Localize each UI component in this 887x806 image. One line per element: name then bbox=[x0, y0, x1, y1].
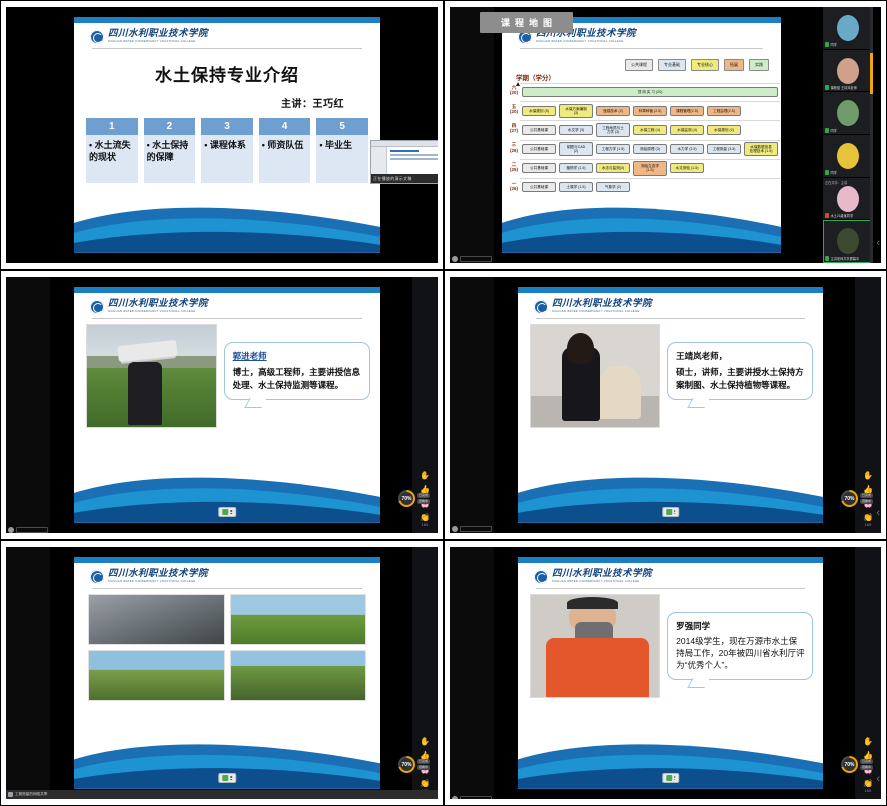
participant-tile[interactable]: 同学 bbox=[823, 135, 873, 178]
agenda-text: • 师资队伍 bbox=[259, 135, 311, 183]
raise-hand-icon[interactable]: ✋ bbox=[420, 472, 430, 480]
agenda-number: 2 bbox=[144, 118, 196, 135]
panel-2: 四川水利职业技术学院 SICHUAN WATER CONSERVANCY VOC… bbox=[444, 0, 887, 270]
thumbnail-caption: 正在播放的演示文稿 bbox=[371, 174, 438, 183]
course-chip[interactable]: 测绘原理 (3) bbox=[633, 144, 667, 154]
chat-rail[interactable] bbox=[450, 277, 494, 533]
microphone-icon bbox=[825, 256, 829, 261]
more-options-icon[interactable] bbox=[674, 510, 676, 514]
ppt-presenter-thumbnail[interactable]: 正在播放的演示文稿 bbox=[370, 140, 438, 184]
slide-stage-6: 四川水利职业技术学院 SICHUAN WATER CONSERVANCY VOC… bbox=[518, 557, 823, 789]
avatar bbox=[837, 228, 859, 254]
participant-video-rail[interactable]: 同学课程组 王靖岚老师同学同学正在共享：主讲水土21级某同学主讲老师共享屏幕中 bbox=[823, 7, 873, 263]
semester-tick: 三(26) bbox=[510, 142, 518, 152]
agenda-text: • 毕业生 bbox=[316, 135, 368, 183]
chat-input-bar[interactable] bbox=[452, 796, 492, 799]
collapse-panel-arrow-icon[interactable]: ‹ bbox=[876, 508, 880, 519]
course-chip[interactable]: 工程监理(2.5) bbox=[707, 106, 741, 116]
college-name-en: SICHUAN WATER CONSERVANCY VOCATIONAL COL… bbox=[108, 41, 208, 44]
scrollbar-thumb[interactable] bbox=[870, 53, 873, 94]
emoji-picker-icon[interactable] bbox=[8, 527, 14, 533]
screenshot-grid: 四川水利职业技术学院 SICHUAN WATER CONSERVANCY VOC… bbox=[0, 0, 887, 806]
course-chip[interactable]: 课程管理(2.5) bbox=[670, 106, 704, 116]
agenda-item: 4 • 师资队伍 bbox=[259, 118, 311, 183]
participant-tile[interactable]: 课程组 王靖岚老师 bbox=[823, 50, 873, 93]
slide-stage-5: 四川水利职业技术学院 SICHUAN WATER CONSERVANCY VOC… bbox=[74, 557, 380, 789]
more-options-icon[interactable] bbox=[674, 776, 676, 780]
agenda-item: 3 • 课程体系 bbox=[201, 118, 253, 183]
course-chip[interactable]: 公共基础课 bbox=[522, 144, 556, 154]
college-name-en: SICHUAN WATER CONSERVANCY VOCATIONAL COL… bbox=[108, 311, 208, 314]
microphone-icon bbox=[825, 42, 829, 47]
course-row: 公共基础课水文学 (3)工程地质与土 力学 (3)水保工程 (4)水保监测 (4… bbox=[520, 120, 780, 138]
progress-badge: 70% 已完成 观看中 bbox=[841, 756, 873, 773]
panel-5: 四川水利职业技术学院 SICHUAN WATER CONSERVANCY VOC… bbox=[0, 540, 444, 806]
avatar bbox=[837, 100, 859, 126]
college-name-en: SICHUAN WATER CONSERVANCY VOCATIONAL COL… bbox=[108, 581, 208, 584]
os-taskbar[interactable]: 工程测量的网络共享 bbox=[6, 790, 438, 799]
chat-rail[interactable] bbox=[450, 7, 494, 263]
taskbar-label: 工程测量的网络共享 bbox=[15, 792, 47, 797]
slide-mini-toolbar[interactable] bbox=[662, 507, 680, 517]
photo-grid bbox=[74, 589, 380, 701]
collapse-panel-arrow-icon[interactable]: ‹ bbox=[876, 774, 880, 785]
course-chip[interactable]: 测绘生态学 (1.5) bbox=[633, 161, 667, 175]
agenda-text: • 水土流失的现状 bbox=[86, 135, 138, 183]
progress-line-1: 已完成 bbox=[860, 759, 873, 764]
course-chip[interactable]: 林草种植 (2.5) bbox=[633, 106, 667, 116]
agenda-item: 5 • 毕业生 bbox=[316, 118, 368, 183]
semester-tick: 一(26) bbox=[510, 181, 518, 191]
agenda-item: 1 • 水土流失的现状 bbox=[86, 118, 138, 183]
chat-input[interactable] bbox=[460, 256, 492, 262]
progress-line-2: 观看中 bbox=[417, 499, 430, 504]
chat-input[interactable] bbox=[16, 527, 48, 533]
teacher-photo bbox=[530, 324, 660, 428]
course-chip[interactable]: 公共基础课 bbox=[522, 163, 556, 173]
college-name-cn: 四川水利职业技术学院 bbox=[552, 570, 652, 580]
raise-hand-icon[interactable]: ✋ bbox=[863, 738, 873, 746]
reaction-count: 165 bbox=[863, 522, 873, 527]
share-screen-icon[interactable] bbox=[666, 509, 672, 515]
participant-name: 主讲老师共享屏幕中 bbox=[825, 256, 859, 261]
panel-4: 四川水利职业技术学院 SICHUAN WATER CONSERVANCY VOC… bbox=[444, 270, 887, 540]
progress-badge: 70% 已完成 观看中 bbox=[398, 490, 430, 507]
slide-stage-1: 四川水利职业技术学院 SICHUAN WATER CONSERVANCY VOC… bbox=[74, 17, 380, 253]
course-chip[interactable]: 水保监测 (4) bbox=[670, 125, 704, 135]
legend-chip: 实践 bbox=[749, 59, 769, 71]
semester-credits: (26) bbox=[510, 148, 518, 153]
progress-line-2: 观看中 bbox=[860, 499, 873, 504]
progress-badge: 70% 已完成 观看中 bbox=[841, 490, 873, 507]
panel-6: 四川水利职业技术学院 SICHUAN WATER CONSERVANCY VOC… bbox=[444, 540, 887, 806]
slide-wave-decoration bbox=[502, 193, 781, 253]
share-screen-icon[interactable] bbox=[222, 509, 228, 515]
slide-mini-toolbar[interactable] bbox=[662, 773, 680, 783]
student-name: 罗强同学 bbox=[676, 620, 805, 632]
raise-hand-button[interactable]: ✋ bbox=[420, 738, 430, 746]
semester-tick: 五(20) bbox=[510, 104, 518, 114]
chat-rail[interactable] bbox=[450, 547, 494, 799]
agenda-text: • 水土保持的保障 bbox=[144, 135, 196, 183]
progress-ring-icon: 70% bbox=[841, 490, 858, 507]
reaction-count: 165 bbox=[863, 788, 873, 793]
raise-hand-icon[interactable]: ✋ bbox=[863, 472, 873, 480]
progress-ring-icon: 70% bbox=[398, 756, 415, 773]
slide-header: 四川水利职业技术学院 SICHUAN WATER CONSERVANCY VOC… bbox=[518, 563, 823, 587]
participant-tile[interactable]: 同学 bbox=[823, 92, 873, 135]
progress-line-1: 已完成 bbox=[860, 493, 873, 498]
course-chip[interactable]: 水文学 (3) bbox=[559, 125, 593, 135]
college-name-en: SICHUAN WATER CONSERVANCY VOCATIONAL COL… bbox=[552, 581, 652, 584]
participant-name: 同学 bbox=[825, 42, 837, 47]
slide-stage-4: 四川水利职业技术学院 SICHUAN WATER CONSERVANCY VOC… bbox=[518, 287, 823, 523]
progress-percent: 70% bbox=[843, 758, 856, 771]
teacher-bio-bubble: 郭进老师 博士，高级工程师，主要讲授信息处理、水土保持监测等课程。 bbox=[224, 342, 370, 400]
college-logo-icon bbox=[90, 300, 104, 314]
applause-button[interactable]: 👏165 bbox=[420, 514, 430, 527]
participant-tile[interactable]: 正在共享：主讲水土21级某同学 bbox=[823, 178, 873, 221]
raise-hand-icon[interactable]: ✋ bbox=[420, 738, 430, 746]
microphone-icon bbox=[825, 170, 829, 175]
slide-header: 四川水利职业技术学院 SICHUAN WATER CONSERVANCY VOC… bbox=[74, 23, 380, 47]
thumbnail-slide-pane bbox=[371, 147, 387, 174]
slide-mini-toolbar[interactable] bbox=[218, 773, 236, 783]
progress-ring-icon: 70% bbox=[841, 756, 858, 773]
chat-input[interactable] bbox=[460, 796, 492, 799]
semester-tick: 二(25) bbox=[510, 162, 518, 172]
tile-status-label: 正在共享：主讲 bbox=[825, 180, 871, 185]
participant-tile[interactable]: 主讲老师共享屏幕中 bbox=[823, 220, 873, 263]
applause-button[interactable]: 👏165 bbox=[863, 514, 873, 527]
college-name-cn: 四川水利职业技术学院 bbox=[108, 30, 208, 40]
progress-percent: 70% bbox=[843, 492, 856, 505]
taskbar-app-icon[interactable] bbox=[8, 792, 13, 797]
chat-rail[interactable] bbox=[6, 277, 50, 533]
microphone-icon bbox=[825, 128, 829, 133]
more-options-icon[interactable] bbox=[230, 776, 232, 780]
slide-header: 四川水利职业技术学院 SICHUAN WATER CONSERVANCY VOC… bbox=[74, 563, 380, 587]
teacher-bio-bubble: 王靖岚老师， 硕士，讲师，主要讲授水土保持方案制图、水土保持植物等课程。 bbox=[667, 342, 813, 400]
avatar bbox=[837, 186, 859, 212]
progress-line-2: 观看中 bbox=[860, 765, 873, 770]
applause-icon[interactable]: 👏 bbox=[863, 514, 873, 522]
course-chip[interactable]: 土壤学 (1.5) bbox=[559, 182, 593, 192]
course-map-overlay-title: 课程地图 bbox=[480, 12, 573, 33]
college-logo-icon bbox=[534, 570, 548, 584]
emoji-picker-icon[interactable] bbox=[452, 796, 458, 799]
photo-cell bbox=[230, 594, 367, 645]
thumbnail-slide-preview bbox=[387, 147, 438, 174]
axis-label: 学期（学分） bbox=[516, 72, 781, 82]
photo-cell bbox=[230, 650, 367, 701]
course-chip[interactable]: 水保方案编制 (3) bbox=[559, 104, 593, 118]
semester-credits: (27) bbox=[510, 128, 518, 133]
slide-header: 四川水利职业技术学院 SICHUAN WATER CONSERVANCY VOC… bbox=[518, 293, 823, 317]
chat-rail[interactable] bbox=[6, 547, 50, 799]
slide-wave-decoration bbox=[74, 193, 380, 253]
reaction-count: 165 bbox=[420, 522, 430, 527]
legend-chip: 专业核心 bbox=[691, 59, 719, 71]
header-divider bbox=[520, 48, 763, 49]
course-map-body: 一(26)二(25)三(26)四(27)五(20)六(20) 公共基础课土壤学 … bbox=[502, 83, 781, 195]
participant-name: 同学 bbox=[825, 170, 837, 175]
college-name-cn: 四川水利职业技术学院 bbox=[108, 570, 208, 580]
progress-line-1: 已完成 bbox=[417, 759, 430, 764]
college-logo-icon bbox=[90, 570, 104, 584]
presenter-label: 主讲：王巧红 bbox=[74, 95, 344, 110]
chat-input-bar[interactable] bbox=[8, 526, 48, 533]
applause-button[interactable]: 👏165 bbox=[863, 780, 873, 793]
participant-tile[interactable]: 同学 bbox=[823, 7, 873, 50]
course-chip[interactable]: 制图与CAD (2) bbox=[559, 142, 593, 156]
student-bio: 2014级学生，现在万源市水土保持局工作，20年被四川省水利厅评为“优秀个人”。 bbox=[676, 636, 805, 672]
student-photo bbox=[530, 594, 660, 698]
college-name-en: SICHUAN WATER CONSERVANCY VOCATIONAL COL… bbox=[536, 41, 636, 44]
course-chip[interactable]: 遥感技术 (2) bbox=[596, 106, 630, 116]
course-chip[interactable]: 公共基础课 bbox=[522, 182, 556, 192]
legend-chip: 拓展 bbox=[724, 59, 744, 71]
microphone-icon bbox=[825, 85, 829, 90]
course-row: 公共基础课制图与CAD (2)工程力学 (1.5)测绘原理 (3)水力学 (3.… bbox=[520, 140, 780, 158]
raise-hand-button[interactable]: ✋ bbox=[420, 472, 430, 480]
teacher-name: 郭进老师 bbox=[233, 350, 362, 362]
course-row: 公共基础课土壤学 (1.5)气象学 (2) bbox=[520, 178, 780, 195]
participant-name: 同学 bbox=[825, 128, 837, 133]
slide-mini-toolbar[interactable] bbox=[218, 507, 236, 517]
agenda-number: 3 bbox=[201, 118, 253, 135]
applause-icon[interactable]: 👏 bbox=[863, 780, 873, 788]
course-chip[interactable]: 水力学 (3.5) bbox=[670, 144, 704, 154]
avatar bbox=[837, 58, 859, 84]
semester-credits: (26) bbox=[510, 186, 518, 191]
raise-hand-button[interactable]: ✋ bbox=[863, 738, 873, 746]
course-row: 顶 岗 实 习 (20) bbox=[520, 83, 780, 100]
course-chip[interactable]: 水保规划 (5) bbox=[522, 106, 556, 116]
teacher-bio: 硕士，讲师，主要讲授水土保持方案制图、水土保持植物等课程。 bbox=[676, 366, 805, 392]
course-rows: 公共基础课土壤学 (1.5)气象学 (2)公共基础课植物学 (1.5)水法与监测… bbox=[520, 83, 780, 195]
agenda-number: 5 bbox=[316, 118, 368, 135]
panel-3: 四川水利职业技术学院 SICHUAN WATER CONSERVANCY VOC… bbox=[0, 270, 444, 540]
course-row: 水保规划 (5)水保方案编制 (3)遥感技术 (2)林草种植 (2.5)课程管理… bbox=[520, 101, 780, 119]
course-chip[interactable]: 工程力学 (1.5) bbox=[596, 144, 630, 154]
legend-chip: 公共课程 bbox=[625, 59, 653, 71]
photo-cell bbox=[88, 594, 225, 645]
avatar bbox=[837, 143, 859, 169]
semester-tick: 四(27) bbox=[510, 123, 518, 133]
agenda-item: 2 • 水土保持的保障 bbox=[144, 118, 196, 183]
college-logo-icon bbox=[534, 300, 548, 314]
progress-percent: 70% bbox=[400, 758, 413, 771]
course-chip[interactable]: 气象学 (2) bbox=[596, 182, 630, 192]
course-chip[interactable]: 水保数据信息 处理技术 (1.5) bbox=[744, 142, 778, 156]
chat-input[interactable] bbox=[460, 526, 492, 532]
semester-credits: (20) bbox=[510, 90, 518, 95]
chat-input-bar[interactable] bbox=[452, 256, 492, 263]
participant-name: 课程组 王靖岚老师 bbox=[825, 85, 857, 90]
agenda-number: 4 bbox=[259, 118, 311, 135]
semester-credits: (25) bbox=[510, 167, 518, 172]
course-chip[interactable]: 水法与监测(3) bbox=[596, 163, 630, 173]
more-options-icon[interactable] bbox=[230, 510, 232, 514]
header-divider bbox=[92, 48, 362, 49]
semester-tick: 六(20) bbox=[510, 85, 518, 95]
share-screen-icon[interactable] bbox=[222, 775, 228, 781]
participant-name: 水土21级某同学 bbox=[825, 213, 853, 218]
progress-line-1: 已完成 bbox=[417, 493, 430, 498]
raise-hand-button[interactable]: ✋ bbox=[863, 472, 873, 480]
panel-1: 四川水利职业技术学院 SICHUAN WATER CONSERVANCY VOC… bbox=[0, 0, 444, 270]
course-chip[interactable]: 顶 岗 实 习 (20) bbox=[522, 87, 778, 97]
page-title: 水土保持专业介绍 bbox=[74, 61, 380, 86]
slide-stage-2: 四川水利职业技术学院 SICHUAN WATER CONSERVANCY VOC… bbox=[502, 17, 781, 253]
college-name-cn: 四川水利职业技术学院 bbox=[552, 300, 652, 310]
course-chip[interactable]: 水文测验 (1.5) bbox=[670, 163, 704, 173]
course-row: 公共基础课植物学 (1.5)水法与监测(3)测绘生态学 (1.5)水文测验 (1… bbox=[520, 159, 780, 177]
emoji-picker-icon[interactable] bbox=[452, 256, 458, 262]
course-chip[interactable]: 水保工程 (4) bbox=[633, 125, 667, 135]
course-chip[interactable]: 工程地质与土 力学 (3) bbox=[596, 123, 630, 137]
collapse-panel-arrow-icon[interactable]: ‹ bbox=[876, 238, 880, 249]
progress-percent: 70% bbox=[400, 492, 413, 505]
agenda-text: • 课程体系 bbox=[201, 135, 253, 183]
course-chip[interactable]: 植物学 (1.5) bbox=[559, 163, 593, 173]
course-chip[interactable]: 水保规划 (2) bbox=[707, 125, 741, 135]
avatar bbox=[837, 15, 859, 41]
course-chip[interactable]: 工程测量 (3.5) bbox=[707, 144, 741, 154]
photo-cell bbox=[88, 650, 225, 701]
course-map-legend: 公共课程专业基础专业核心拓展实践 bbox=[502, 53, 769, 71]
share-screen-icon[interactable] bbox=[666, 775, 672, 781]
video-rail-scrollbar[interactable] bbox=[870, 7, 873, 263]
teacher-photo bbox=[86, 324, 217, 428]
legend-chip: 专业基础 bbox=[658, 59, 686, 71]
agenda-number: 1 bbox=[86, 118, 138, 135]
progress-badge: 70% 已完成 观看中 bbox=[398, 756, 430, 773]
college-name-cn: 四川水利职业技术学院 bbox=[108, 300, 208, 310]
emoji-picker-icon[interactable] bbox=[452, 526, 458, 532]
college-logo-icon bbox=[90, 30, 104, 44]
semester-credits: (20) bbox=[510, 109, 518, 114]
microphone-icon bbox=[825, 213, 829, 218]
applause-icon[interactable]: 👏 bbox=[420, 514, 430, 522]
college-name-en: SICHUAN WATER CONSERVANCY VOCATIONAL COL… bbox=[552, 311, 652, 314]
progress-ring-icon: 70% bbox=[398, 490, 415, 507]
course-chip[interactable]: 公共基础课 bbox=[522, 125, 556, 135]
semester-axis: 一(26)二(25)三(26)四(27)五(20)六(20) bbox=[510, 83, 518, 195]
teacher-bio: 博士，高级工程师，主要讲授信息处理、水土保持监测等课程。 bbox=[233, 366, 362, 392]
agenda-columns: 1 • 水土流失的现状 2 • 水土保持的保障 3 • 课程体系 4 bbox=[86, 118, 368, 183]
teacher-name: 王靖岚老师， bbox=[676, 350, 805, 362]
slide-stage-3: 四川水利职业技术学院 SICHUAN WATER CONSERVANCY VOC… bbox=[74, 287, 380, 523]
applause-icon[interactable]: 👏 bbox=[420, 780, 430, 788]
slide-header: 四川水利职业技术学院 SICHUAN WATER CONSERVANCY VOC… bbox=[74, 293, 380, 317]
student-bio-bubble: 罗强同学 2014级学生，现在万源市水土保持局工作，20年被四川省水利厅评为“优… bbox=[667, 612, 813, 680]
chat-input-bar[interactable] bbox=[452, 526, 492, 533]
progress-line-2: 观看中 bbox=[417, 765, 430, 770]
